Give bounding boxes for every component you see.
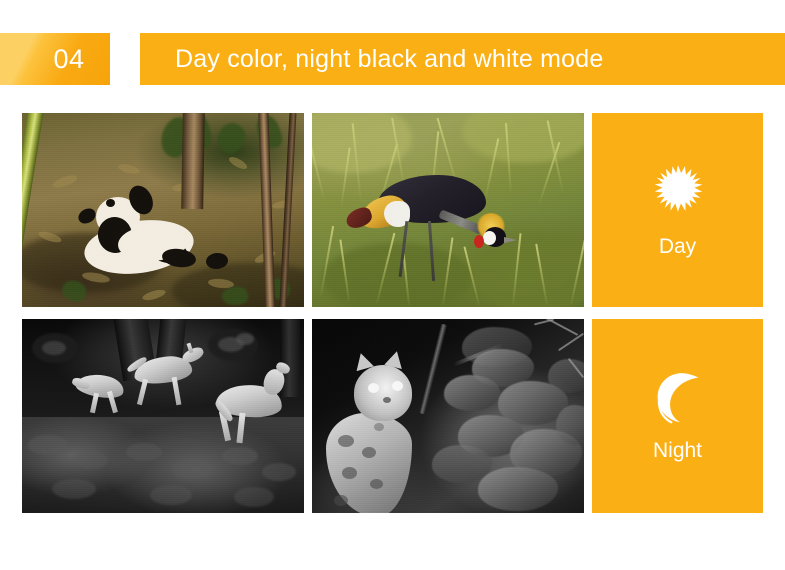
day-mode-label: Day — [659, 236, 696, 257]
night-mode-label: Night — [653, 440, 702, 461]
deer-night-scene — [22, 319, 304, 513]
header: 04 Day color, night black and white mode — [0, 33, 785, 85]
panel-night-mode: Night — [592, 319, 763, 513]
section-number-text: 04 — [25, 46, 84, 73]
photo-night-deer — [22, 319, 304, 513]
page-title: Day color, night black and white mode — [140, 47, 603, 72]
moon-icon — [655, 372, 701, 424]
title-bar: Day color, night black and white mode — [140, 33, 785, 85]
photo-day-panda — [22, 113, 304, 307]
sun-icon — [650, 164, 706, 220]
panel-day-mode: Day — [592, 113, 763, 307]
feature-grid: Day Night — [22, 113, 763, 513]
photo-night-cat — [312, 319, 584, 513]
crane-scene — [312, 113, 584, 307]
leopard-cat-night-scene — [312, 319, 584, 513]
product-feature-slide: 04 Day color, night black and white mode — [0, 0, 785, 570]
panda-scene — [22, 113, 304, 307]
photo-day-crane — [312, 113, 584, 307]
section-number-badge: 04 — [0, 33, 110, 85]
